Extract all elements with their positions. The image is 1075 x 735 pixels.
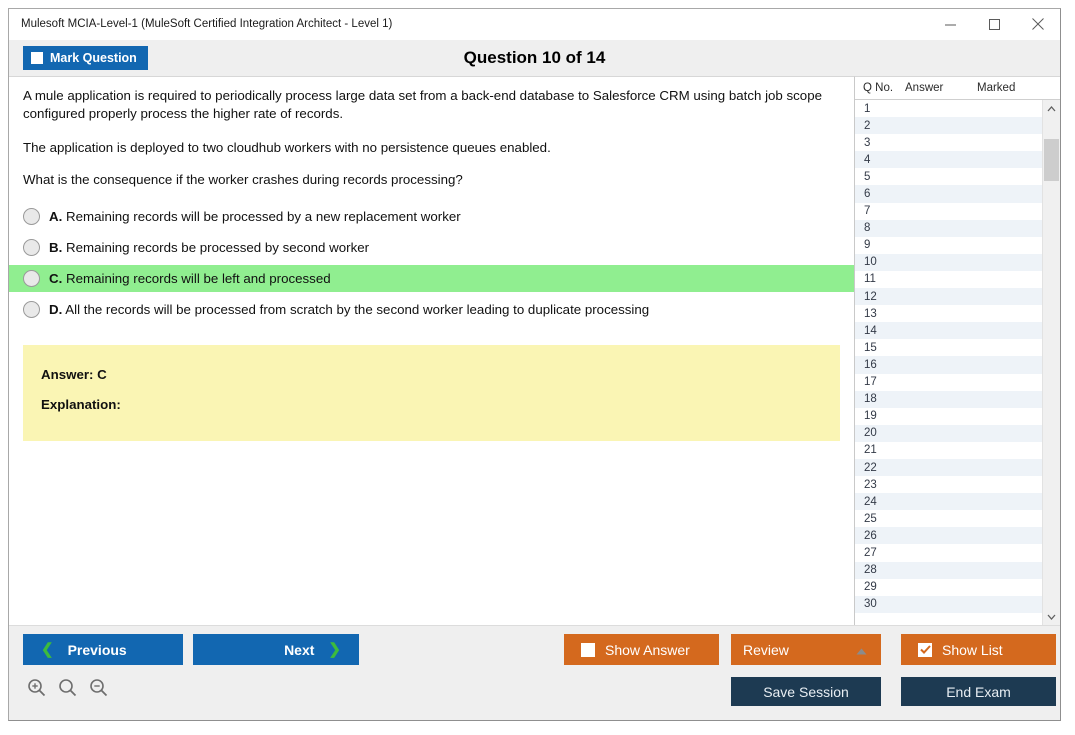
question-list-row[interactable]: 5 bbox=[855, 168, 1042, 185]
answer-value: Answer: C bbox=[41, 367, 822, 382]
question-list-pane: Q No. Answer Marked 12345678910111213141… bbox=[854, 76, 1060, 625]
question-list-row[interactable]: 16 bbox=[855, 356, 1042, 373]
question-list-row[interactable]: 11 bbox=[855, 271, 1042, 288]
question-number-cell: 20 bbox=[855, 427, 906, 439]
question-number-cell: 30 bbox=[855, 598, 906, 610]
question-list-row[interactable]: 17 bbox=[855, 374, 1042, 391]
radio-icon-d[interactable] bbox=[23, 301, 40, 318]
exam-application-window: Mulesoft MCIA-Level-1 (MuleSoft Certifie… bbox=[0, 0, 1075, 735]
mark-question-label: Mark Question bbox=[50, 51, 137, 65]
option-row-c[interactable]: C. Remaining records will be left and pr… bbox=[9, 265, 854, 292]
zoom-controls bbox=[27, 678, 108, 702]
option-label-b: B. Remaining records be processed by sec… bbox=[49, 240, 369, 255]
question-list-row[interactable]: 15 bbox=[855, 339, 1042, 356]
chevron-left-icon: ❮ bbox=[41, 642, 54, 657]
question-number-cell: 25 bbox=[855, 513, 906, 525]
save-session-label: Save Session bbox=[763, 684, 849, 700]
question-number-cell: 8 bbox=[855, 222, 906, 234]
question-number-cell: 5 bbox=[855, 171, 906, 183]
option-text-d: All the records will be processed from s… bbox=[65, 302, 649, 317]
footer-toolbar: ❮ Previous Next ❯ Show Answer Review bbox=[9, 625, 1060, 720]
question-paragraph: What is the consequence if the worker cr… bbox=[23, 171, 840, 189]
question-list-row[interactable]: 7 bbox=[855, 203, 1042, 220]
question-number-cell: 9 bbox=[855, 239, 906, 251]
option-row-a[interactable]: A. Remaining records will be processed b… bbox=[9, 203, 854, 230]
scrollbar-thumb[interactable] bbox=[1044, 139, 1059, 181]
question-list-scrollbar[interactable] bbox=[1042, 100, 1060, 625]
option-row-b[interactable]: B. Remaining records be processed by sec… bbox=[9, 234, 854, 261]
question-number-cell: 22 bbox=[855, 462, 906, 474]
option-letter-a: A. bbox=[49, 209, 62, 224]
question-list-row[interactable]: 3 bbox=[855, 134, 1042, 151]
end-exam-label: End Exam bbox=[946, 684, 1011, 700]
page-title: Question 10 of 14 bbox=[9, 48, 1060, 68]
question-number-cell: 18 bbox=[855, 393, 906, 405]
question-number-cell: 24 bbox=[855, 496, 906, 508]
question-list-header: Q No. Answer Marked bbox=[855, 77, 1060, 100]
chevron-down-icon[interactable] bbox=[1043, 608, 1060, 625]
question-list-row[interactable]: 2 bbox=[855, 117, 1042, 134]
question-number-cell: 16 bbox=[855, 359, 906, 371]
radio-icon-c[interactable] bbox=[23, 270, 40, 287]
zoom-out-icon[interactable] bbox=[89, 678, 108, 702]
question-number-cell: 29 bbox=[855, 581, 906, 593]
question-text-block: A mule application is required to period… bbox=[9, 77, 854, 189]
question-list-row[interactable]: 28 bbox=[855, 562, 1042, 579]
question-number-cell: 23 bbox=[855, 479, 906, 491]
question-number-cell: 7 bbox=[855, 205, 906, 217]
maximize-icon[interactable] bbox=[972, 9, 1016, 39]
question-list-row[interactable]: 13 bbox=[855, 305, 1042, 322]
question-list-row[interactable]: 1 bbox=[855, 100, 1042, 117]
option-label-c: C. Remaining records will be left and pr… bbox=[49, 271, 331, 286]
end-exam-button[interactable]: End Exam bbox=[901, 677, 1056, 706]
column-header-qno: Q No. bbox=[855, 82, 905, 94]
option-text-a: Remaining records will be processed by a… bbox=[66, 209, 461, 224]
option-letter-c: C. bbox=[49, 271, 62, 286]
column-header-answer: Answer bbox=[905, 82, 977, 94]
question-list-row[interactable]: 27 bbox=[855, 544, 1042, 561]
mark-question-button[interactable]: Mark Question bbox=[23, 46, 148, 70]
question-list-row[interactable]: 24 bbox=[855, 493, 1042, 510]
option-label-a: A. Remaining records will be processed b… bbox=[49, 209, 461, 224]
question-list-row[interactable]: 14 bbox=[855, 322, 1042, 339]
previous-label: Previous bbox=[68, 642, 127, 658]
window-title: Mulesoft MCIA-Level-1 (MuleSoft Certifie… bbox=[9, 18, 928, 30]
question-list-row[interactable]: 10 bbox=[855, 254, 1042, 271]
question-paragraph: The application is deployed to two cloud… bbox=[23, 139, 840, 157]
show-list-button[interactable]: Show List bbox=[901, 634, 1056, 665]
question-number-cell: 14 bbox=[855, 325, 906, 337]
question-list-row[interactable]: 12 bbox=[855, 288, 1042, 305]
zoom-icon[interactable] bbox=[58, 678, 77, 702]
question-number-cell: 17 bbox=[855, 376, 906, 388]
minimize-icon[interactable] bbox=[928, 9, 972, 39]
option-letter-b: B. bbox=[49, 240, 62, 255]
option-row-d[interactable]: D. All the records will be processed fro… bbox=[9, 296, 854, 323]
review-dropdown-button[interactable]: Review bbox=[731, 634, 881, 665]
window-controls bbox=[928, 9, 1060, 39]
question-number-cell: 21 bbox=[855, 444, 906, 456]
question-paragraph: A mule application is required to period… bbox=[23, 87, 840, 123]
chevron-right-icon: ❯ bbox=[328, 642, 341, 657]
show-list-checkbox-icon bbox=[918, 643, 932, 657]
question-list-row[interactable]: 26 bbox=[855, 527, 1042, 544]
question-pane: A mule application is required to period… bbox=[9, 76, 854, 625]
close-icon[interactable] bbox=[1016, 9, 1060, 39]
question-number-cell: 4 bbox=[855, 154, 906, 166]
radio-icon-b[interactable] bbox=[23, 239, 40, 256]
question-number-cell: 26 bbox=[855, 530, 906, 542]
radio-icon-a[interactable] bbox=[23, 208, 40, 225]
question-list-row[interactable]: 30 bbox=[855, 596, 1042, 613]
answer-explanation-panel: Answer: C Explanation: bbox=[23, 345, 840, 441]
question-list-row[interactable]: 22 bbox=[855, 459, 1042, 476]
question-number-cell: 19 bbox=[855, 410, 906, 422]
show-answer-checkbox-icon bbox=[581, 643, 595, 657]
zoom-in-icon[interactable] bbox=[27, 678, 46, 702]
question-list-row[interactable]: 20 bbox=[855, 425, 1042, 442]
question-number-cell: 3 bbox=[855, 137, 906, 149]
next-label: Next bbox=[284, 642, 314, 658]
review-label: Review bbox=[743, 642, 789, 658]
content-area: A mule application is required to period… bbox=[9, 76, 1060, 625]
show-list-label: Show List bbox=[942, 642, 1003, 658]
option-label-d: D. All the records will be processed fro… bbox=[49, 302, 649, 317]
option-letter-d: D. bbox=[49, 302, 62, 317]
answer-options: A. Remaining records will be processed b… bbox=[9, 203, 854, 323]
question-number-cell: 2 bbox=[855, 120, 906, 132]
question-list-row[interactable]: 21 bbox=[855, 442, 1042, 459]
question-number-cell: 13 bbox=[855, 308, 906, 320]
question-list-row[interactable]: 29 bbox=[855, 579, 1042, 596]
question-list-row[interactable]: 23 bbox=[855, 476, 1042, 493]
question-list-row[interactable]: 6 bbox=[855, 185, 1042, 202]
scrollbar-track[interactable] bbox=[1043, 117, 1060, 608]
question-list-row[interactable]: 25 bbox=[855, 510, 1042, 527]
app-window: Mulesoft MCIA-Level-1 (MuleSoft Certifie… bbox=[8, 8, 1061, 721]
caret-up-icon bbox=[856, 642, 867, 658]
column-header-marked: Marked bbox=[977, 82, 1043, 94]
question-list-row[interactable]: 19 bbox=[855, 408, 1042, 425]
question-number-cell: 12 bbox=[855, 291, 906, 303]
question-number-cell: 10 bbox=[855, 256, 906, 268]
question-number-cell: 1 bbox=[855, 103, 906, 115]
chevron-up-icon[interactable] bbox=[1043, 100, 1060, 117]
question-list-row[interactable]: 18 bbox=[855, 391, 1042, 408]
question-number-cell: 27 bbox=[855, 547, 906, 559]
question-list-row[interactable]: 4 bbox=[855, 151, 1042, 168]
question-number-cell: 6 bbox=[855, 188, 906, 200]
question-list-body: 1234567891011121314151617181920212223242… bbox=[855, 100, 1060, 625]
save-session-button[interactable]: Save Session bbox=[731, 677, 881, 706]
question-number-cell: 11 bbox=[855, 273, 906, 285]
option-text-b: Remaining records be processed by second… bbox=[66, 240, 369, 255]
next-button[interactable]: Next ❯ bbox=[193, 634, 359, 665]
show-answer-label: Show Answer bbox=[605, 642, 690, 658]
question-number-cell: 15 bbox=[855, 342, 906, 354]
question-list-rows: 1234567891011121314151617181920212223242… bbox=[855, 100, 1042, 625]
previous-button[interactable]: ❮ Previous bbox=[23, 634, 183, 665]
option-text-c: Remaining records will be left and proce… bbox=[66, 271, 331, 286]
title-bar: Mulesoft MCIA-Level-1 (MuleSoft Certifie… bbox=[9, 9, 1060, 40]
show-answer-button[interactable]: Show Answer bbox=[564, 634, 719, 665]
question-list-row[interactable]: 8 bbox=[855, 220, 1042, 237]
explanation-label: Explanation: bbox=[41, 397, 822, 412]
mark-question-checkbox-icon bbox=[31, 52, 43, 64]
question-list-row[interactable]: 9 bbox=[855, 237, 1042, 254]
question-header-bar: Mark Question Question 10 of 14 bbox=[9, 40, 1060, 76]
question-number-cell: 28 bbox=[855, 564, 906, 576]
